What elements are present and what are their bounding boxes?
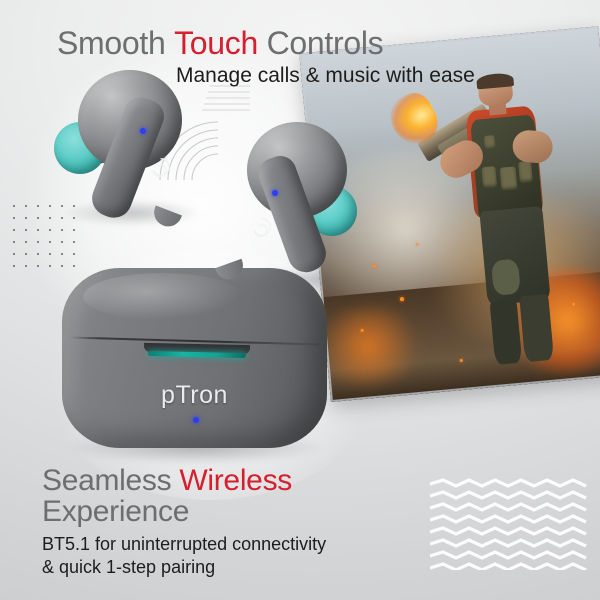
earbud-indicator-led	[140, 128, 146, 134]
ptron-spiral-icon	[150, 156, 172, 178]
bottom-title: Seamless WirelessExperience	[42, 465, 326, 527]
bottom-title-line2: Experience	[42, 495, 189, 528]
product-marketing-banner: pTron	[0, 0, 600, 600]
zigzag-wave-pattern	[430, 478, 588, 570]
bottom-sub-line2: & quick 1-step pairing	[42, 557, 215, 577]
headline-highlight: Touch	[174, 25, 258, 61]
earbud-shadow	[62, 200, 202, 226]
headline: Smooth Touch Controls	[57, 25, 383, 62]
bottom-title-part1: Seamless	[42, 464, 179, 497]
earbud-indicator-led	[272, 190, 278, 196]
right-earbud	[225, 118, 415, 298]
ptron-spiral-icon	[251, 216, 273, 238]
headline-part1: Smooth	[57, 25, 174, 61]
bottom-copy-block: Seamless WirelessExperience BT5.1 for un…	[42, 465, 326, 579]
earbud-shadow	[231, 268, 361, 292]
case-brand-logo: pTron	[62, 381, 327, 410]
case-highlight	[83, 273, 242, 320]
bottom-sub-line1: BT5.1 for uninterrupted connectivity	[42, 534, 326, 554]
bottom-title-highlight: Wireless	[179, 464, 292, 497]
headline-part2: Controls	[258, 25, 383, 61]
dot-grid-pattern	[8, 200, 82, 268]
subheadline: Manage calls & music with ease	[176, 64, 475, 88]
bottom-subtext: BT5.1 for uninterrupted connectivity& qu…	[42, 533, 326, 579]
